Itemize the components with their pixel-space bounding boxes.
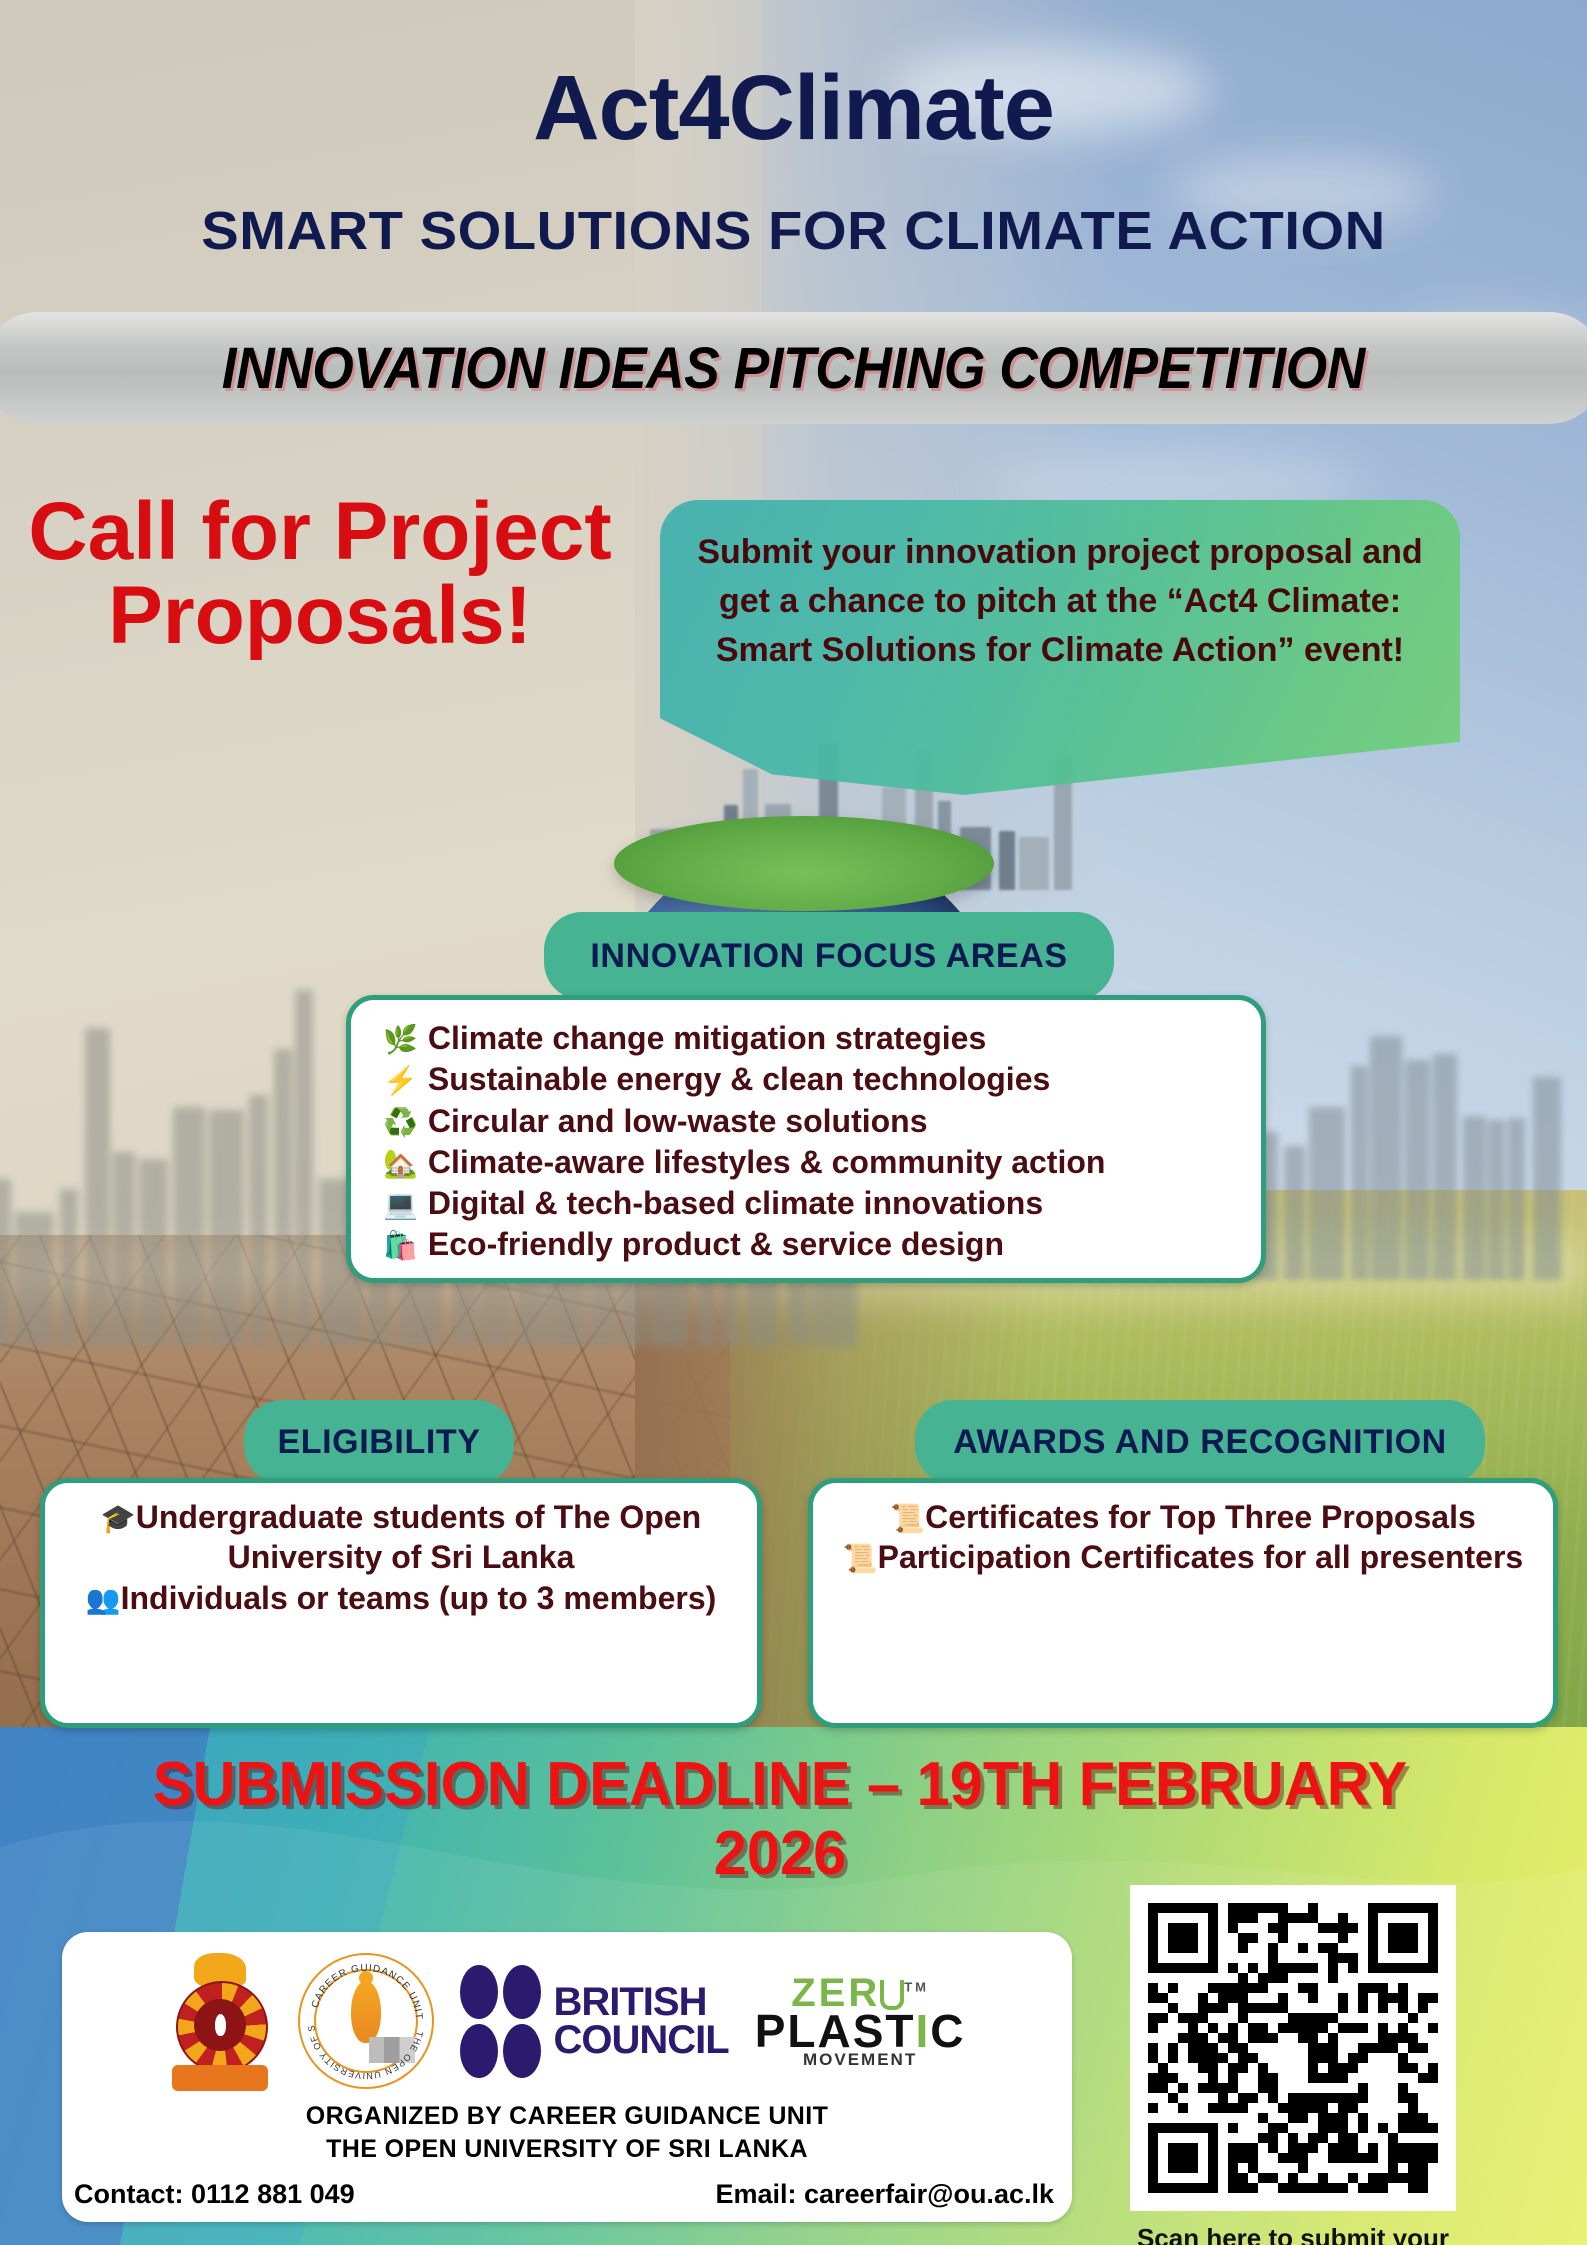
organizer-lines: ORGANIZED BY CAREER GUIDANCE UNIT THE OP… [62,2100,1072,2165]
list-item-label: Digital & tech-based climate innovations [428,1183,1043,1224]
list-item: 👥Individuals or teams (up to 3 members) [67,1578,735,1618]
list-item: 🌿Climate change mitigation strategies [383,1018,1261,1059]
list-item: ⚡Sustainable energy & clean technologies [383,1059,1261,1100]
people-icon: 👥 [86,1584,121,1615]
competition-banner: INNOVATION IDEAS PITCHING COMPETITION [0,312,1587,424]
list-item: 🎓Undergraduate students of The Open Univ… [67,1497,735,1578]
herb-icon: 🌿 [383,1026,418,1054]
zero-plastic-line3: MOVEMENT [803,2052,917,2067]
eligibility-heading-label: ELIGIBILITY [277,1423,480,1462]
awards-heading: AWARDS AND RECOGNITION [915,1400,1485,1484]
eligibility-card: 🎓Undergraduate students of The Open Univ… [40,1478,762,1728]
graduation-cap-icon: 🎓 [101,1503,136,1534]
contact-phone[interactable]: Contact: 0112 881 049 [74,2179,355,2210]
zp-zer: ZER [791,1971,880,2015]
poster-root: Act4Climate SMART SOLUTIONS FOR CLIMATE … [0,0,1587,2245]
list-item-label: Climate change mitigation strategies [428,1018,986,1059]
awards-card: 📜Certificates for Top Three Proposals📜Pa… [808,1478,1558,1728]
ousl-crest-logo [168,1951,272,2091]
speech-bubble: Submit your innovation project proposal … [660,500,1460,795]
qr-section: Scan here to submit your proposal [1128,1885,1458,2245]
organizer-line-2: THE OPEN UNIVERSITY OF SRI LANKA [62,2133,1072,2166]
list-item: ♻️Circular and low-waste solutions [383,1101,1261,1142]
scroll-icon: 📜 [890,1503,925,1534]
focus-areas-list: 🌿Climate change mitigation strategies⚡Su… [351,1018,1261,1266]
eligibility-heading: ELIGIBILITY [244,1400,514,1484]
awards-list: 📜Certificates for Top Three Proposals📜Pa… [813,1483,1553,1578]
organizer-line-1: ORGANIZED BY CAREER GUIDANCE UNIT [62,2100,1072,2133]
british-council-line2: COUNCIL [553,2021,728,2059]
awards-heading-label: AWARDS AND RECOGNITION [953,1423,1447,1462]
focus-areas-card: 🌿Climate change mitigation strategies⚡Su… [346,995,1266,1283]
lightning-icon: ⚡ [383,1067,418,1095]
page-title: Act4Climate [0,62,1587,154]
list-item-label: Certificates for Top Three Proposals [925,1499,1476,1535]
call-for-proposals-headline: Call for Project Proposals! [20,490,620,657]
crest-scroll-banner [172,2065,268,2091]
page-subtitle: SMART SOLUTIONS FOR CLIMATE ACTION [0,200,1587,262]
list-item: 🛍️Eco-friendly product & service design [383,1224,1261,1265]
british-council-logo: BRITISH COUNCIL [460,1965,728,2078]
logo-row: CAREER GUIDANCE UNIT THE OPEN UNIVERSITY… [62,1946,1072,2096]
house-icon: 🏡 [383,1150,418,1178]
zero-plastic-line2: PLASTIC [755,2011,966,2052]
flame-icon [215,2014,226,2036]
list-item: 📜Participation Certificates for all pres… [835,1537,1531,1577]
qr-caption: Scan here to submit your proposal [1128,2223,1458,2245]
zp-i: I [915,2005,930,2057]
zp-c: C [930,2005,965,2057]
trademark-mark: TM [904,1979,929,1994]
list-item-label: Participation Certificates for all prese… [878,1539,1524,1575]
list-item-label: Undergraduate students of The Open Unive… [136,1499,701,1575]
footer-card: CAREER GUIDANCE UNIT THE OPEN UNIVERSITY… [62,1932,1072,2222]
contact-row: Contact: 0112 881 049 Email: careerfair@… [74,2179,1054,2210]
cgu-ring-text: CAREER GUIDANCE UNIT THE OPEN UNIVERSITY… [300,1955,432,2087]
list-item-label: Circular and low-waste solutions [428,1101,928,1142]
qr-code[interactable] [1130,1885,1456,2211]
globe-grass-cap [614,816,994,911]
focus-areas-heading-label: INNOVATION FOCUS AREAS [590,937,1067,976]
career-guidance-unit-logo: CAREER GUIDANCE UNIT THE OPEN UNIVERSITY… [298,1953,434,2089]
submission-deadline: SUBMISSION DEADLINE – 19TH FEBRUARY 2026 [89,1750,1471,1889]
list-item-label: Climate-aware lifestyles & community act… [428,1142,1106,1183]
banner-label: INNOVATION IDEAS PITCHING COMPETITION [222,335,1365,402]
zero-plastic-movement-logo: ZERTM PLASTIC MOVEMENT [755,1975,966,2068]
recycle-icon: ♻️ [383,1109,418,1137]
svg-text:CAREER GUIDANCE UNIT: CAREER GUIDANCE UNIT [310,1963,424,2021]
british-council-line1: BRITISH [553,1983,728,2021]
list-item: 🏡Climate-aware lifestyles & community ac… [383,1142,1261,1183]
zero-plastic-line1: ZERTM [791,1975,929,2011]
british-council-wordmark: BRITISH COUNCIL [553,1983,728,2060]
shopping-bags-icon: 🛍️ [383,1232,418,1260]
list-item-label: Eco-friendly product & service design [428,1224,1004,1265]
scroll-icon: 📜 [843,1543,878,1574]
contact-email[interactable]: Email: careerfair@ou.ac.lk [716,2179,1055,2210]
crest-motto [172,2065,268,2091]
list-item: 📜Certificates for Top Three Proposals [835,1497,1531,1537]
list-item-label: Individuals or teams (up to 3 members) [121,1580,717,1616]
focus-areas-heading: INNOVATION FOCUS AREAS [544,912,1114,1000]
zp-arc-o-icon [880,1980,904,2010]
laptop-icon: 💻 [383,1191,418,1219]
list-item-label: Sustainable energy & clean technologies [428,1059,1050,1100]
british-council-dots-icon [460,1965,541,2078]
list-item: 💻Digital & tech-based climate innovation… [383,1183,1261,1224]
eligibility-list: 🎓Undergraduate students of The Open Univ… [45,1483,757,1618]
speech-bubble-text: Submit your innovation project proposal … [688,528,1432,675]
